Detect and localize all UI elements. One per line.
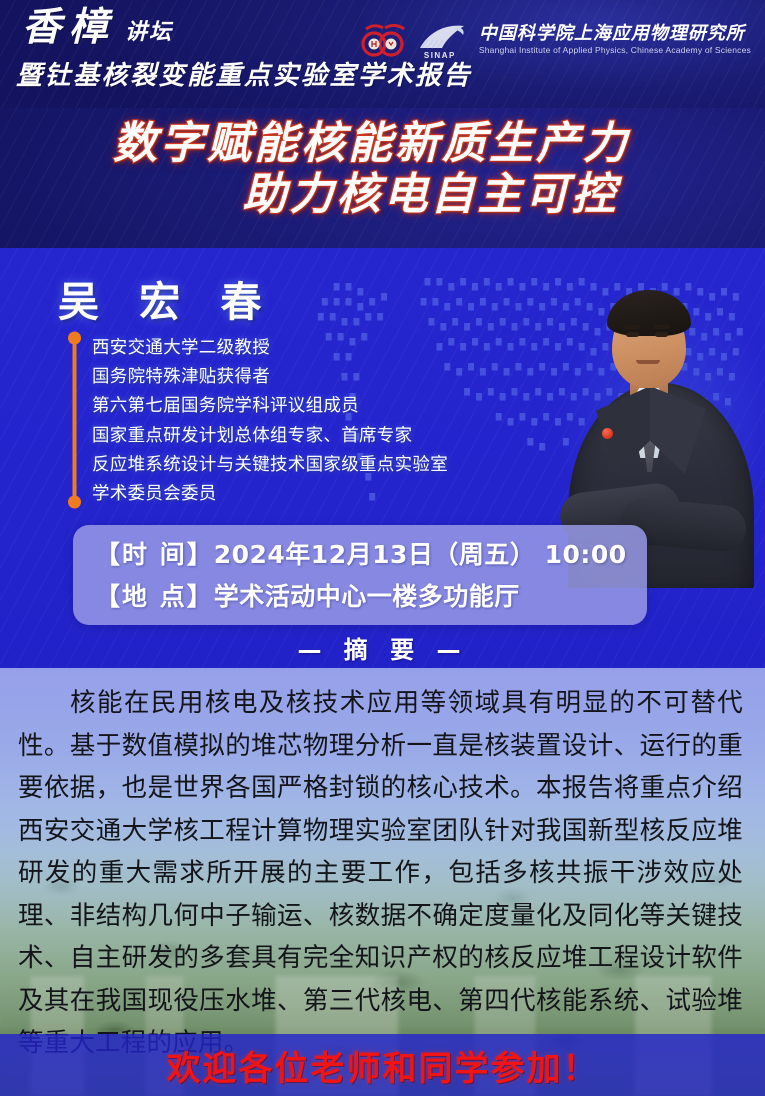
event-place-row: 【地 点】学术活动中心一楼多功能厅 xyxy=(95,577,520,613)
event-time-value: 2024年12月13日（周五） 10:00 xyxy=(214,540,627,569)
institute-logo-group: SINAP 中国科学院上海应用物理研究所 Shanghai Institute … xyxy=(361,22,751,58)
anniversary-65-badge-icon xyxy=(361,23,407,57)
credential-item: 反应堆系统设计与关键技术国家级重点实验室 xyxy=(92,451,448,480)
portrait-eyebrow-left xyxy=(624,325,640,329)
event-place-label: 【地 点】 xyxy=(95,582,214,611)
seminar-poster: 香樟 讲坛 暨钍基核裂变能重点实验室学术报告 SINAP 中 xyxy=(0,0,765,1096)
forum-name-suffix: 讲坛 xyxy=(125,21,173,47)
credential-item: 国务院特殊津贴获得者 xyxy=(92,363,448,392)
speaker-credentials-list: 西安交通大学二级教授 国务院特殊津贴获得者 第六第七届国务院学科评议组成员 国家… xyxy=(92,334,448,509)
credential-item: 第六第七届国务院学科评议组成员 xyxy=(92,392,448,421)
header-subtitle: 暨钍基核裂变能重点实验室学术报告 xyxy=(16,62,472,91)
credential-item: 西安交通大学二级教授 xyxy=(92,334,448,363)
title-line-1: 数字赋能核能新质生产力 xyxy=(113,118,630,169)
event-place-value: 学术活动中心一楼多功能厅 xyxy=(214,582,520,611)
abstract-heading: — 摘 要 — xyxy=(0,630,765,665)
institute-name-cn: 中国科学院上海应用物理研究所 xyxy=(479,25,751,44)
event-time-label: 【时 间】 xyxy=(95,540,214,569)
abstract-body-text: 核能在民用核电及核技术应用等领域具有明显的不可替代性。基于数值模拟的堆芯物理分析… xyxy=(18,682,743,1065)
forum-name: 香樟 xyxy=(22,8,116,47)
credential-item: 学术委员会委员 xyxy=(92,480,448,509)
orange-accent-bar xyxy=(68,330,81,510)
portrait-lapel-pin xyxy=(602,428,613,439)
sinap-wordmark: SINAP xyxy=(424,51,456,60)
portrait-eye-right xyxy=(655,332,668,337)
portrait-eye-left xyxy=(626,332,639,337)
credential-item: 国家重点研发计划总体组专家、首席专家 xyxy=(92,422,448,451)
poster-title: 数字赋能核能新质生产力 助力核电自主可控 xyxy=(0,118,765,220)
abstract-panel: 核能在民用核电及核技术应用等领域具有明显的不可替代性。基于数值模拟的堆芯物理分析… xyxy=(0,668,765,1028)
portrait-eyebrow-right xyxy=(654,325,670,329)
portrait-mouth xyxy=(636,360,660,364)
title-line-2: 助力核电自主可控 xyxy=(243,169,619,220)
event-time-row: 【时 间】2024年12月13日（周五） 10:00 xyxy=(95,535,627,571)
speaker-name: 吴 宏 春 xyxy=(58,268,275,328)
sinap-logo-icon: SINAP xyxy=(416,22,470,58)
forum-title-group: 香樟 讲坛 xyxy=(22,8,173,47)
institute-name-en: Shanghai Institute of Applied Physics, C… xyxy=(479,45,751,55)
institute-name-group: 中国科学院上海应用物理研究所 Shanghai Institute of App… xyxy=(479,25,751,55)
welcome-message: 欢迎各位老师和同学参加！ xyxy=(0,1041,765,1090)
